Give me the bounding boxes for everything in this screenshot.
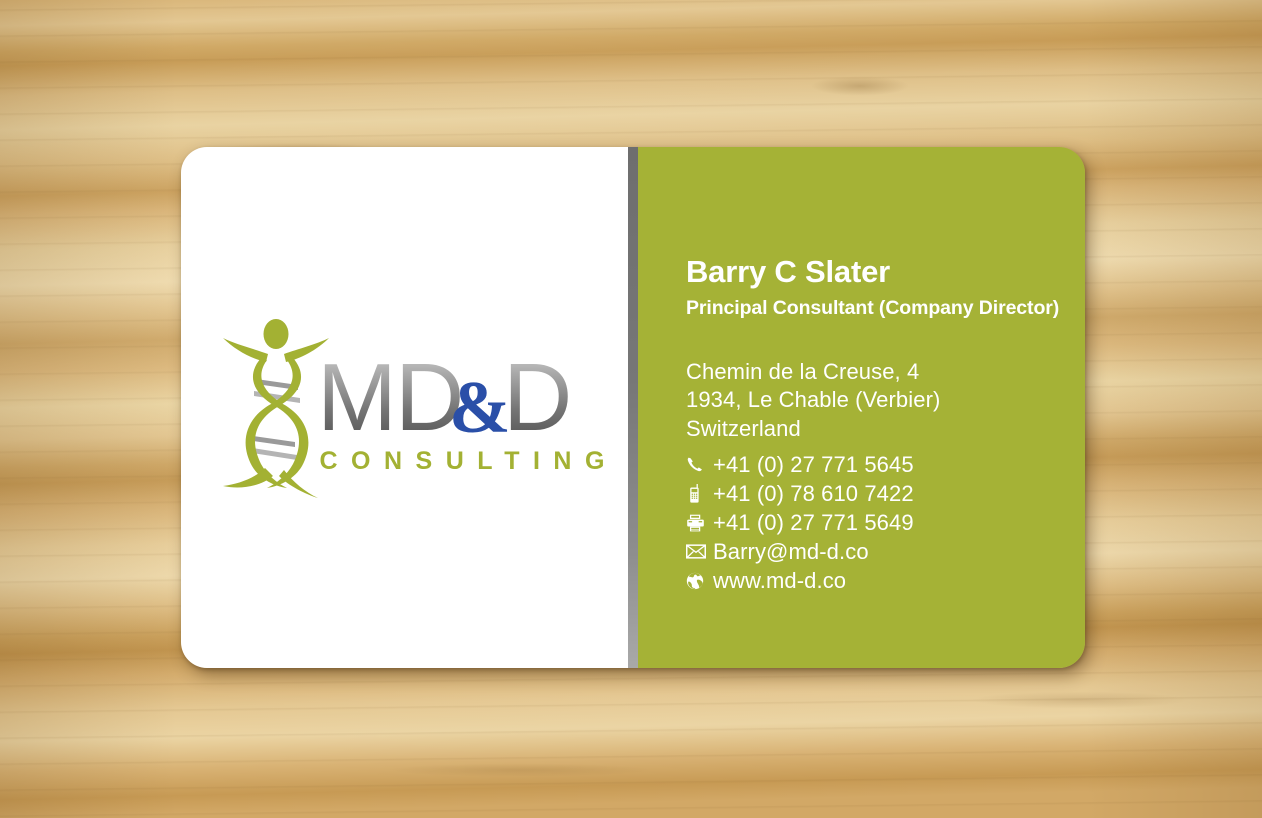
- contact-row-website: www.md-d.co: [686, 566, 1085, 595]
- wordmark-md-and-d: MD & D: [317, 352, 607, 447]
- contact-row-fax: +41 (0) 27 771 5649: [686, 508, 1085, 537]
- company-logo: MD & D CONSULTING: [221, 318, 601, 498]
- phone-icon: [686, 456, 707, 473]
- mobile-number[interactable]: +41 (0) 78 610 7422: [713, 481, 914, 507]
- card-divider: [628, 147, 638, 668]
- contact-methods-list: +41 (0) 27 771 5645: [686, 450, 1085, 595]
- screenshot-stage: MD & D CONSULTING Barry C Slater Princip…: [0, 0, 1262, 818]
- address-line: Switzerland: [686, 415, 1085, 443]
- wordmark-md: MD: [317, 352, 462, 447]
- contact-row-phone: +41 (0) 27 771 5645: [686, 450, 1085, 479]
- email-icon: [686, 544, 707, 559]
- logo-tagline: CONSULTING: [320, 447, 618, 476]
- contact-block: Barry C Slater Principal Consultant (Com…: [686, 255, 1085, 595]
- website-url[interactable]: www.md-d.co: [713, 568, 846, 594]
- postal-address: Chemin de la Creuse, 4 1934, Le Chable (…: [686, 358, 1085, 443]
- mobile-icon: [686, 484, 707, 503]
- contact-row-mobile: +41 (0) 78 610 7422: [686, 479, 1085, 508]
- card-front-panel: MD & D CONSULTING: [181, 147, 628, 668]
- person-role: Principal Consultant (Company Director): [686, 297, 1085, 320]
- phone-number[interactable]: +41 (0) 27 771 5645: [713, 452, 914, 478]
- person-name: Barry C Slater: [686, 255, 1085, 289]
- wordmark-d: D: [503, 352, 572, 447]
- globe-icon: [686, 572, 707, 590]
- fax-icon: [686, 514, 707, 532]
- card-contact-panel: Barry C Slater Principal Consultant (Com…: [638, 147, 1085, 668]
- fax-number[interactable]: +41 (0) 27 771 5649: [713, 510, 914, 536]
- address-line: Chemin de la Creuse, 4: [686, 358, 1085, 386]
- wordmark-ampersand: &: [449, 367, 511, 447]
- email-address[interactable]: Barry@md-d.co: [713, 539, 869, 565]
- dna-helix-human-figure-icon: [221, 318, 331, 498]
- address-line: 1934, Le Chable (Verbier): [686, 386, 1085, 414]
- business-card[interactable]: MD & D CONSULTING Barry C Slater Princip…: [181, 147, 1085, 668]
- contact-row-email: Barry@md-d.co: [686, 537, 1085, 566]
